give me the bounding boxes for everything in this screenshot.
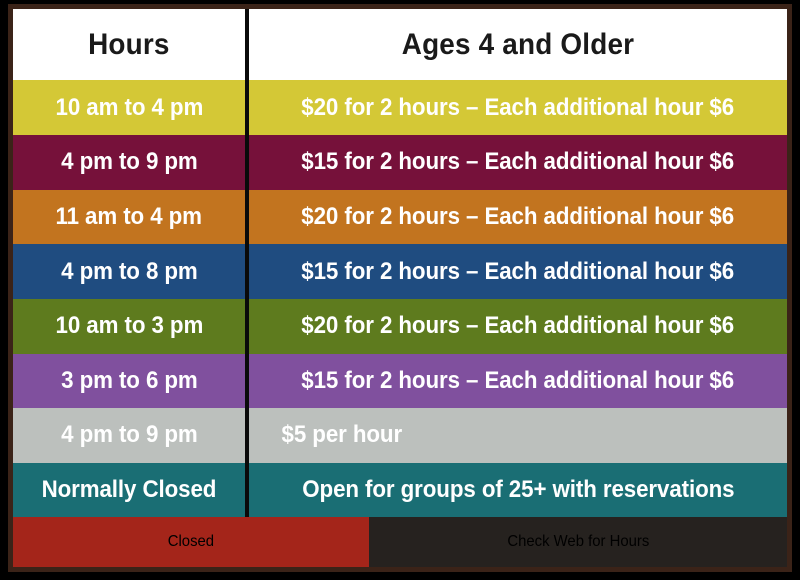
table-footer-row: ClosedCheck Web for Hours — [13, 517, 787, 567]
rate-label: $20 for 2 hours – Each additional hour $… — [302, 203, 735, 231]
cell-hours: 10 am to 3 pm — [13, 299, 245, 354]
table-row: 4 pm to 9 pm$5 per hour — [13, 408, 787, 463]
cell-rate: $15 for 2 hours – Each additional hour $… — [249, 354, 787, 409]
hours-label: 3 pm to 6 pm — [61, 367, 198, 395]
rate-label: $15 for 2 hours – Each additional hour $… — [302, 367, 735, 395]
header-cell-hours: Hours — [13, 9, 245, 80]
cell-rate: Open for groups of 25+ with reservations — [249, 463, 787, 518]
footer-cell-web: Check Web for Hours — [369, 517, 787, 567]
footer-cell-closed: Closed — [13, 517, 369, 567]
cell-hours: 4 pm to 9 pm — [13, 135, 245, 190]
rate-label: $20 for 2 hours – Each additional hour $… — [302, 312, 735, 340]
table-row: Normally ClosedOpen for groups of 25+ wi… — [13, 463, 787, 518]
hours-label: 11 am to 4 pm — [56, 203, 202, 231]
table-row: 4 pm to 8 pm$15 for 2 hours – Each addit… — [13, 244, 787, 299]
rate-label: $15 for 2 hours – Each additional hour $… — [302, 258, 735, 286]
table-row: 4 pm to 9 pm$15 for 2 hours – Each addit… — [13, 135, 787, 190]
table-row: 10 am to 4 pm$20 for 2 hours – Each addi… — [13, 80, 787, 135]
hours-label: 10 am to 4 pm — [55, 94, 203, 122]
cell-rate: $20 for 2 hours – Each additional hour $… — [249, 190, 787, 245]
cell-hours: Normally Closed — [13, 463, 245, 518]
table-row: 3 pm to 6 pm$15 for 2 hours – Each addit… — [13, 354, 787, 409]
table-header-row: Hours Ages 4 and Older — [13, 9, 787, 80]
cell-rate: $5 per hour — [249, 408, 787, 463]
rate-label: Open for groups of 25+ with reservations — [302, 476, 734, 504]
hours-label: 4 pm to 8 pm — [61, 258, 198, 286]
cell-rate: $20 for 2 hours – Each additional hour $… — [249, 299, 787, 354]
rate-label: $5 per hour — [282, 421, 403, 449]
cell-hours: 4 pm to 9 pm — [13, 408, 245, 463]
hours-label: Normally Closed — [42, 476, 217, 504]
cell-hours: 10 am to 4 pm — [13, 80, 245, 135]
cell-hours: 11 am to 4 pm — [13, 190, 245, 245]
hours-label: 10 am to 3 pm — [55, 312, 203, 340]
header-label-hours: Hours — [88, 28, 170, 62]
table-row: 10 am to 3 pm$20 for 2 hours – Each addi… — [13, 299, 787, 354]
table-row: 11 am to 4 pm$20 for 2 hours – Each addi… — [13, 190, 787, 245]
cell-hours: 4 pm to 8 pm — [13, 244, 245, 299]
web-hours-label: Check Web for Hours — [507, 533, 649, 551]
hours-label: 4 pm to 9 pm — [61, 148, 198, 176]
cell-hours: 3 pm to 6 pm — [13, 354, 245, 409]
table-frame: Hours Ages 4 and Older 10 am to 4 pm$20 … — [0, 0, 800, 580]
header-cell-ages: Ages 4 and Older — [249, 9, 787, 80]
cell-rate: $15 for 2 hours – Each additional hour $… — [249, 244, 787, 299]
hours-label: 4 pm to 9 pm — [61, 421, 198, 449]
rates-table: Hours Ages 4 and Older 10 am to 4 pm$20 … — [13, 9, 787, 567]
cell-rate: $15 for 2 hours – Each additional hour $… — [249, 135, 787, 190]
rate-label: $20 for 2 hours – Each additional hour $… — [302, 94, 735, 122]
header-label-ages: Ages 4 and Older — [402, 28, 634, 62]
rate-label: $15 for 2 hours – Each additional hour $… — [302, 148, 735, 176]
table-border: Hours Ages 4 and Older 10 am to 4 pm$20 … — [8, 4, 792, 572]
closed-label: Closed — [168, 533, 214, 551]
cell-rate: $20 for 2 hours – Each additional hour $… — [249, 80, 787, 135]
